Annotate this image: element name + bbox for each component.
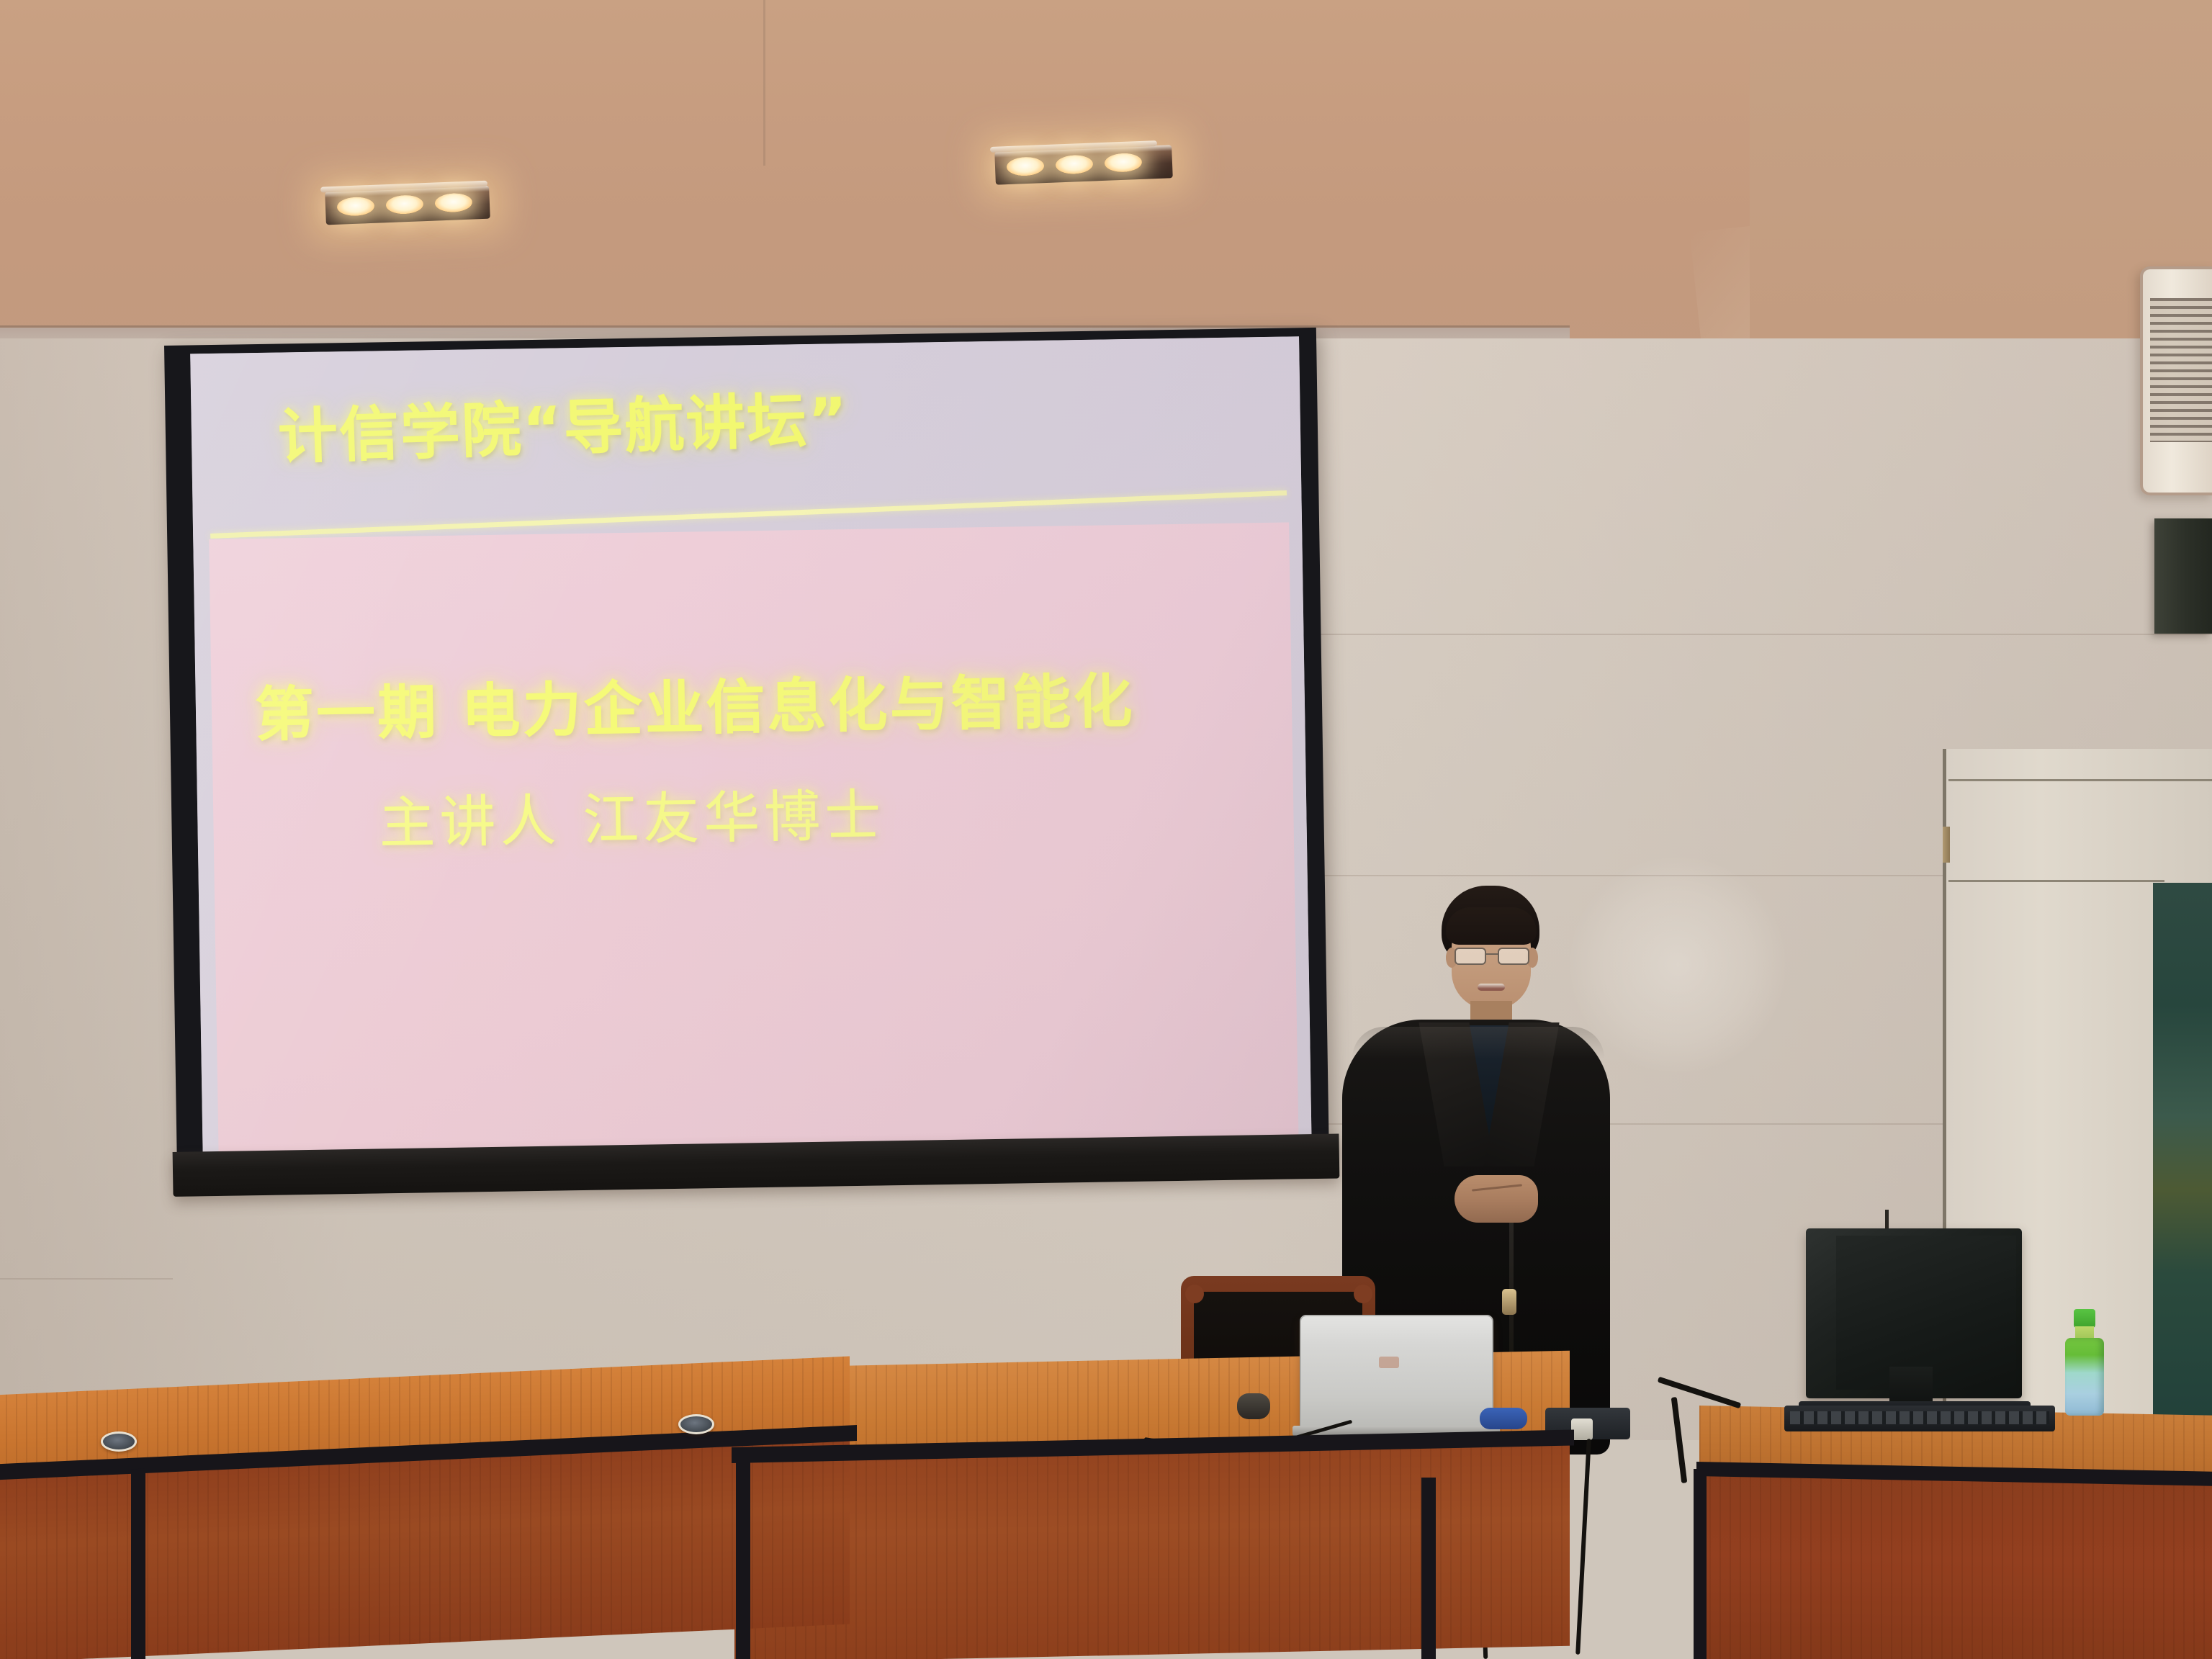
door-hinge-icon [1943,827,1950,863]
ceiling-light-right [994,145,1173,184]
laptop-logo [1379,1357,1399,1368]
desk-grommet [678,1414,714,1434]
desk-right-front-panel [1699,1466,2212,1659]
cable-plug [1571,1419,1593,1440]
slide-heading: 第一期 电力企业信息化与智能化 [254,670,1263,745]
lecture-hall-photo: 计信学院“导航讲坛” 第一期 电力企业信息化与智能化 主讲人 江友华博士 [0,0,2212,1659]
chair-knob [1185,1285,1204,1303]
lanyard-badge [1502,1289,1516,1315]
lamp-icon [1055,155,1093,175]
glasses-bridge [1485,953,1498,955]
chair-knob [1354,1285,1372,1303]
desk-panel-divider [131,1469,145,1659]
ceiling-light-left [325,186,490,225]
jacket-shoulder-highlight [1352,1027,1604,1058]
presenter-hands [1455,1175,1538,1223]
desk-center-front-panel [734,1434,1570,1659]
blue-accessory [1480,1408,1527,1429]
wall-seam [0,1278,173,1280]
wall-speaker-icon [2154,518,2212,634]
presenter-mouth [1478,984,1505,991]
keyboard [1784,1406,2055,1431]
lamp-icon [337,197,375,217]
monitor [1806,1228,2022,1407]
desk-grommet [101,1431,137,1452]
door-rail [1948,880,2164,882]
door-rail [1948,779,2212,781]
lamp-icon [385,194,423,215]
glasses-lens [1498,948,1529,965]
glasses-icon [1453,948,1529,962]
wall-seam [1318,634,2212,635]
wood-grain [734,1434,1570,1659]
projection-screen: 计信学院“导航讲坛” 第一期 电力企业信息化与智能化 主讲人 江友华博士 [164,328,1330,1217]
bottle-cap [2074,1309,2095,1328]
laptop [1300,1315,1493,1433]
ac-louvers [2150,298,2212,442]
keyboard-keys [1790,1411,2049,1424]
mouse [1237,1393,1270,1419]
wood-grain [1699,1466,2212,1659]
slide-speaker-line: 主讲人 江友华博士 [379,783,1244,853]
glasses-lens [1455,948,1486,965]
air-conditioner-icon [2140,266,2212,495]
cable [1575,1439,1591,1655]
slide-body-panel: 第一期 电力企业信息化与智能化 主讲人 江友华博士 [209,522,1298,1159]
presenter-hair-front [1446,907,1537,945]
bottle-body [2065,1338,2104,1416]
lamp-icon [1007,156,1045,176]
presentation-slide: 计信学院“导航讲坛” 第一期 电力企业信息化与智能化 主讲人 江友华博士 [190,336,1311,1160]
door-glass-panel [2153,883,2212,1440]
desk-panel-divider [736,1455,750,1659]
ceiling-seam [763,0,765,166]
lamp-icon [434,193,472,213]
screen-surface: 计信学院“导航讲坛” 第一期 电力企业信息化与智能化 主讲人 江友华博士 [190,336,1311,1160]
desk-panel-divider [1421,1478,1436,1659]
lamp-icon [1104,153,1142,173]
desk-panel-divider [1694,1469,1707,1659]
slide-title: 计信学院“导航讲坛” [277,390,850,467]
